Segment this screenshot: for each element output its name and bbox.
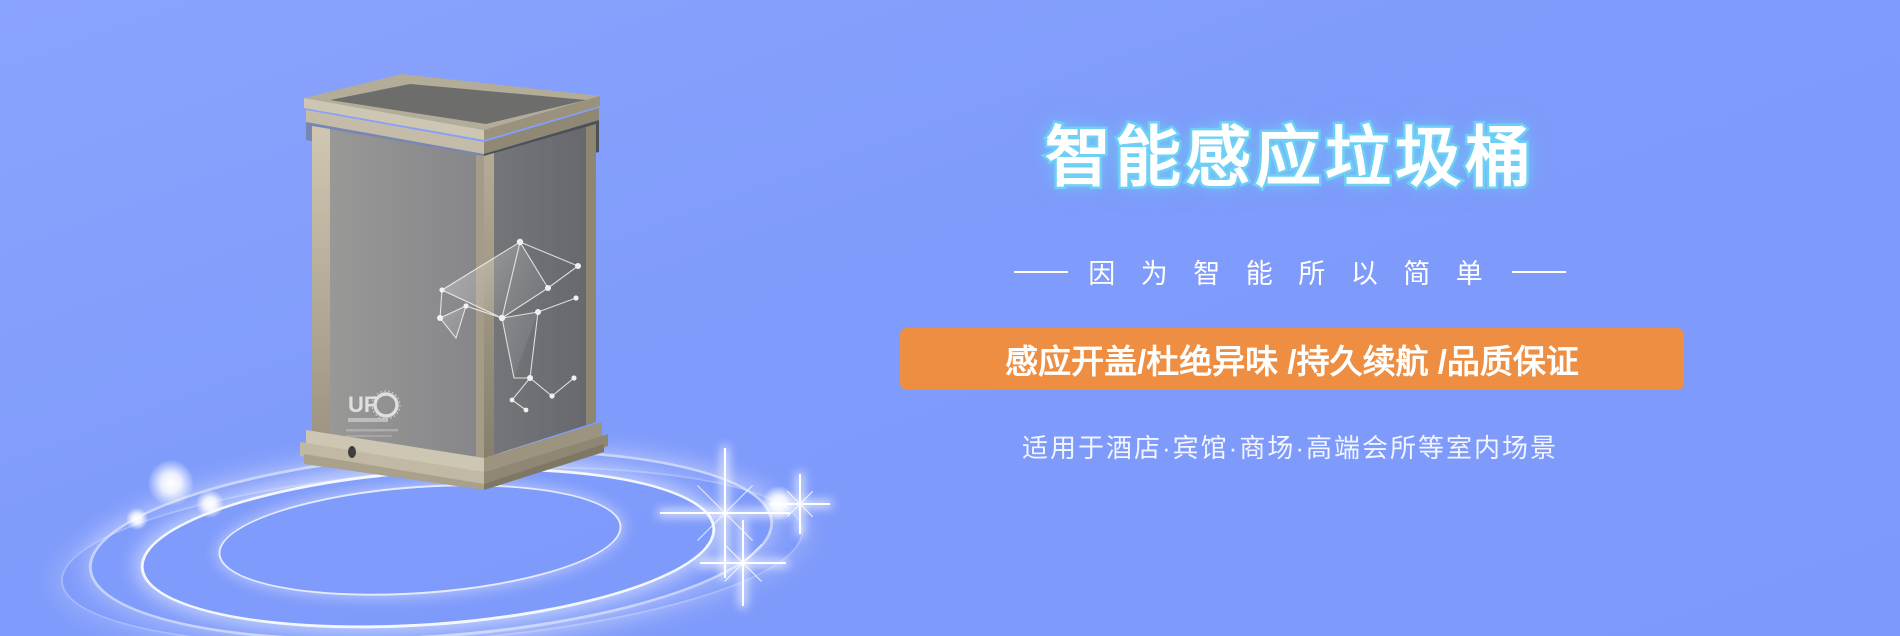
text-column: 智能感应垃圾桶 因 为 智 能 所 以 简 单 感应开盖/杜绝异味 /持久续航 … xyxy=(880,0,1900,636)
glow-dot-icon xyxy=(148,460,194,506)
product-image-trash-bin: UF xyxy=(290,60,610,490)
horizontal-rule-icon-left xyxy=(1014,271,1068,273)
promo-banner: UF 智能感应垃圾桶 因 为 智 能 所 以 简 单 xyxy=(0,0,1900,636)
product-stage: UF xyxy=(0,0,870,636)
glow-dot-icon xyxy=(196,490,224,518)
svg-text:UF: UF xyxy=(348,392,377,417)
glow-dot-icon xyxy=(762,486,796,520)
glow-dot-icon xyxy=(126,508,148,530)
subtitle-row: 因 为 智 能 所 以 简 单 xyxy=(880,252,1700,291)
scenario-description: 适用于酒店·宾馆·商场·高端会所等室内场景 xyxy=(880,428,1700,465)
feature-badge-label: 感应开盖/杜绝异味 /持久续航 /品质保证 xyxy=(1005,335,1579,383)
page-title: 智能感应垃圾桶 xyxy=(880,124,1700,190)
horizontal-rule-icon-right xyxy=(1512,271,1566,273)
feature-badge: 感应开盖/杜绝异味 /持久续航 /品质保证 xyxy=(900,328,1684,390)
subtitle-text: 因 为 智 能 所 以 简 单 xyxy=(1088,252,1492,291)
